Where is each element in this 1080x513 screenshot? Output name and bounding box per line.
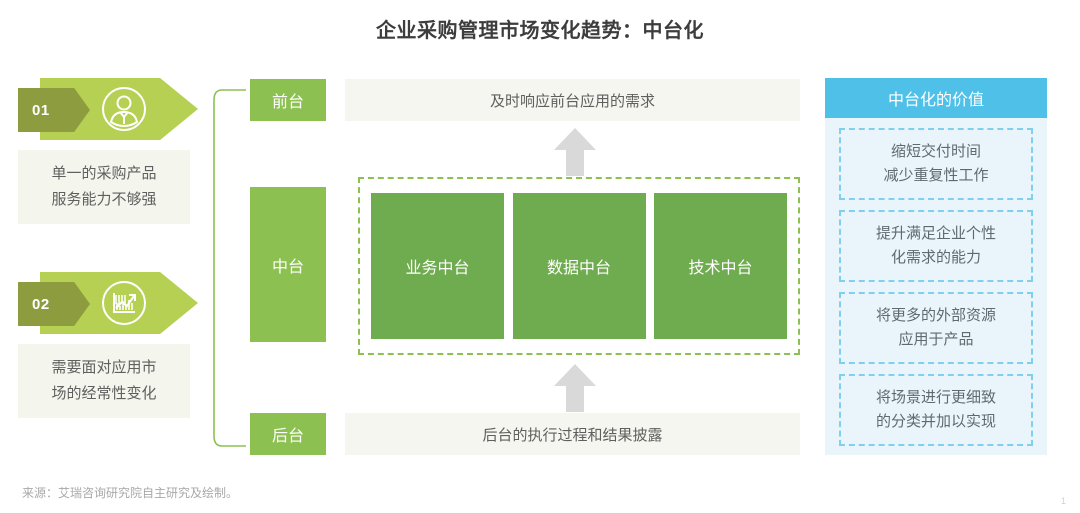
issue-chevron: 02 <box>18 272 198 334</box>
arrow-up-icon <box>554 364 596 412</box>
issues-column: 01 单一的采购产品 服务能力不够强 02 <box>18 78 198 418</box>
value-item: 将更多的外部资源 应用于产品 <box>839 292 1033 364</box>
tier-label-middle: 中台 <box>250 187 326 342</box>
platform-box: 业务中台 <box>371 193 504 339</box>
platform-box: 技术中台 <box>654 193 787 339</box>
issue-item: 01 单一的采购产品 服务能力不够强 <box>18 78 198 224</box>
value-item: 将场景进行更细致 的分类并加以实现 <box>839 374 1033 446</box>
issue-description: 单一的采购产品 服务能力不够强 <box>18 150 190 224</box>
issue-description: 需要面对应用市 场的经常性变化 <box>18 344 190 418</box>
tier-label-back: 后台 <box>250 413 326 455</box>
page-number: 1 <box>1061 496 1066 506</box>
arrow-up-icon <box>554 128 596 176</box>
value-item: 缩短交付时间 减少重复性工作 <box>839 128 1033 200</box>
growth-chart-icon <box>100 279 148 327</box>
issue-chevron: 01 <box>18 78 198 140</box>
page-title: 企业采购管理市场变化趋势：中台化 <box>0 14 1080 43</box>
value-panel: 中台化的价值 缩短交付时间 减少重复性工作 提升满足企业个性 化需求的能力 将更… <box>825 78 1047 455</box>
tier-label-front: 前台 <box>250 79 326 121</box>
value-panel-header: 中台化的价值 <box>825 78 1047 118</box>
issue-item: 02 需要面对应用市 场的经常性变化 <box>18 272 198 418</box>
bracket-connector <box>212 88 246 448</box>
user-icon <box>100 85 148 133</box>
back-tier-banner: 后台的执行过程和结果披露 <box>345 413 800 455</box>
source-note: 来源：艾瑞咨询研究院自主研究及绘制。 <box>22 484 238 501</box>
front-tier-banner: 及时响应前台应用的需求 <box>345 79 800 121</box>
platform-box: 数据中台 <box>513 193 646 339</box>
middle-platform-group: 业务中台 数据中台 技术中台 <box>358 177 800 355</box>
value-item: 提升满足企业个性 化需求的能力 <box>839 210 1033 282</box>
value-panel-list: 缩短交付时间 减少重复性工作 提升满足企业个性 化需求的能力 将更多的外部资源 … <box>825 118 1047 456</box>
